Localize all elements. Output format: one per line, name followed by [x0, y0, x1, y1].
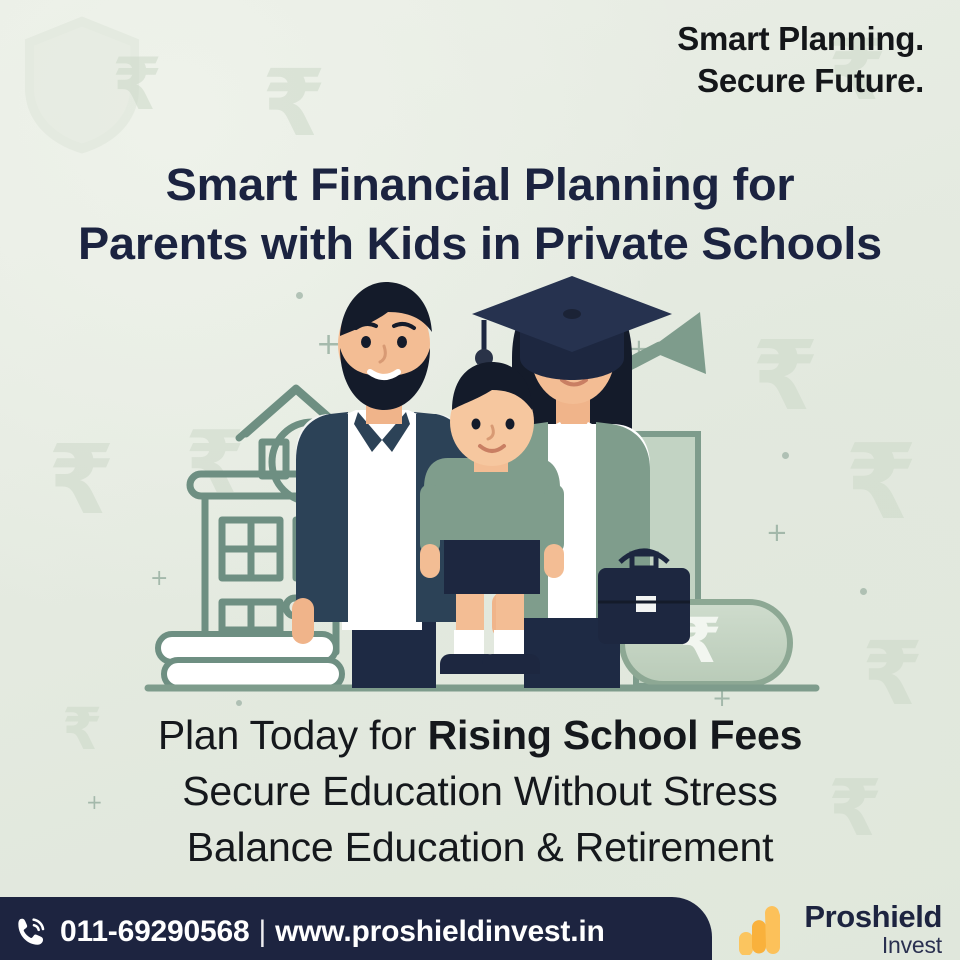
phone-call-icon[interactable]: [14, 915, 48, 949]
benefits-list: Plan Today for Rising School Fees Secure…: [0, 708, 960, 875]
rupee-watermark: ₹: [262, 58, 326, 150]
page-title: Smart Financial Planning for Parents wit…: [0, 156, 960, 273]
contact-bar: 011-69290568 | www.proshieldinvest.in: [0, 897, 712, 960]
brand-subtitle: Invest: [804, 934, 942, 957]
tagline-line-1: Smart Planning.: [677, 18, 924, 60]
contact-separator: |: [258, 915, 266, 949]
tagline-line-2: Secure Future.: [677, 60, 924, 102]
benefit-line-1-prefix: Plan Today for: [158, 712, 428, 758]
rupee-watermark: ₹: [112, 48, 162, 120]
tagline: Smart Planning. Secure Future.: [677, 18, 924, 101]
benefit-line-2: Secure Education Without Stress: [0, 764, 960, 820]
contact-details: 011-69290568 | www.proshieldinvest.in: [60, 915, 605, 949]
website-url[interactable]: www.proshieldinvest.in: [275, 915, 605, 949]
benefit-line-1: Plan Today for Rising School Fees: [0, 708, 960, 764]
proshield-m-bars-icon: [734, 903, 794, 955]
phone-number[interactable]: 011-69290568: [60, 915, 249, 949]
poster-canvas: ₹₹₹₹₹₹₹₹₹₹ ++++++ Smart Planning. Secure…: [0, 0, 960, 960]
stacked-books: [158, 634, 342, 688]
brand-logo: Proshield Invest: [734, 898, 942, 960]
headline-line-1: Smart Financial Planning for: [0, 156, 960, 215]
benefit-line-1-strong: Rising School Fees: [428, 712, 803, 758]
brand-name: Proshield: [804, 901, 942, 932]
family-education-savings-illustration: ₹ ₹: [0, 262, 960, 702]
benefit-line-3: Balance Education & Retirement: [0, 820, 960, 876]
brand-wordmark: Proshield Invest: [804, 901, 942, 957]
